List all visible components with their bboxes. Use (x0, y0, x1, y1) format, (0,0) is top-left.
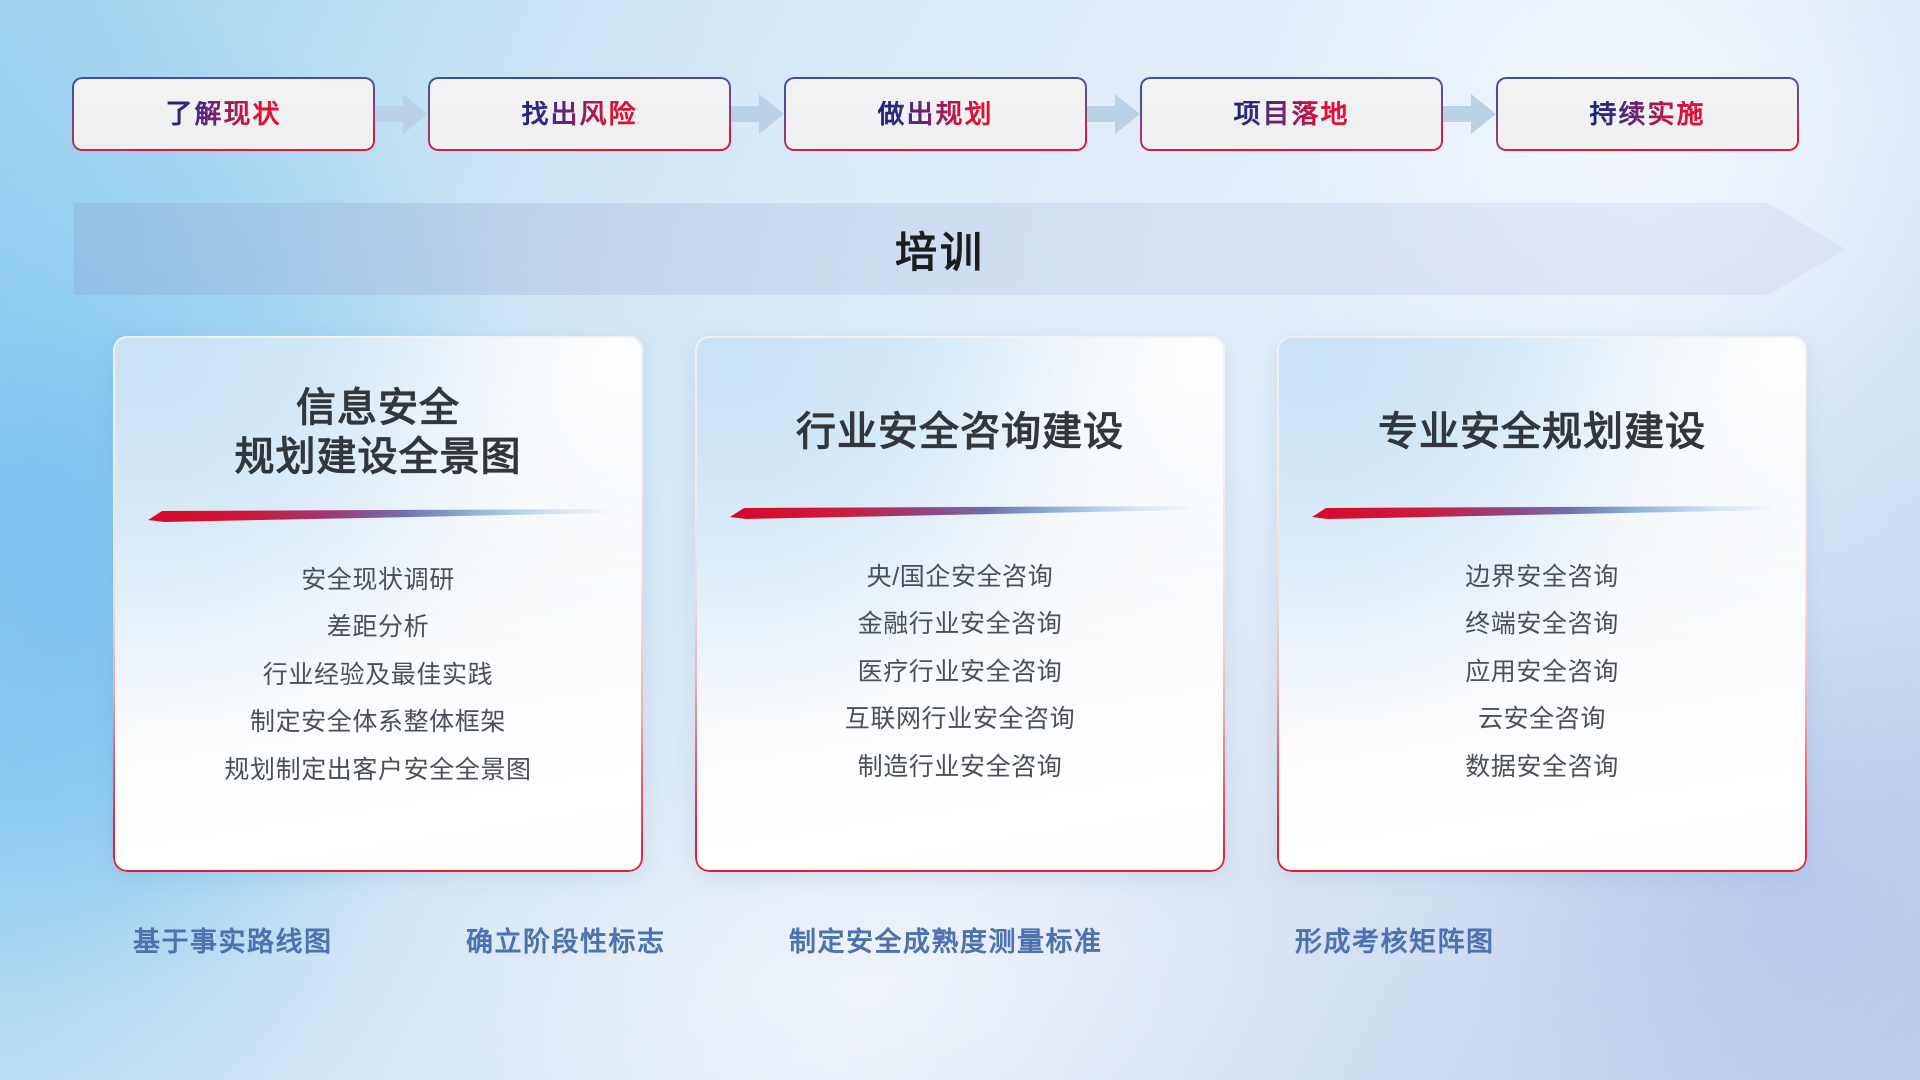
card-information-security-blueprint[interactable]: 信息安全 规划建设全景图 (113, 336, 643, 872)
caption-assessment-matrix: 形成考核矩阵图 (1295, 916, 1495, 968)
step-box-4[interactable]: 项目落地 (1142, 79, 1441, 149)
step-label-2: 找出风险 (522, 101, 638, 128)
list-item: 制造行业安全咨询 (858, 747, 1063, 789)
list-item: 互联网行业安全咨询 (845, 699, 1075, 741)
caption-roadmap: 基于事实路线图 (133, 916, 333, 968)
list-item: 安全现状调研 (301, 560, 455, 602)
step-box-3[interactable]: 做出规划 (786, 79, 1085, 149)
step-box-2[interactable]: 找出风险 (430, 79, 729, 149)
slide-canvas: 了解现状 找出风险 做出规划 (0, 0, 1920, 1080)
arrow-right-icon (1441, 90, 1498, 138)
training-banner: 培训 (74, 203, 1846, 295)
step-box-5[interactable]: 持续实施 (1498, 79, 1797, 149)
card-divider-rule (730, 506, 1190, 519)
card-item-list: 边界安全咨询 终端安全咨询 应用安全咨询 云安全咨询 数据安全咨询 (1465, 557, 1619, 789)
step-wrap-5: 持续实施 (1498, 79, 1797, 149)
arrow-right-icon (1085, 90, 1142, 138)
arrow-right-icon (373, 90, 430, 138)
list-item: 数据安全咨询 (1465, 747, 1619, 789)
step-wrap-4: 项目落地 (1142, 79, 1498, 149)
banner-title: 培训 (74, 203, 1846, 295)
step-label-3: 做出规划 (878, 101, 994, 128)
step-wrap-3: 做出规划 (786, 79, 1142, 149)
step-label-5: 持续实施 (1590, 101, 1706, 128)
step-label-1: 了解现状 (166, 101, 282, 128)
card-professional-security-planning[interactable]: 专业安全规划建设 (1277, 336, 1807, 872)
process-step-row: 了解现状 找出风险 做出规划 (74, 79, 1846, 149)
card-item-list: 央/国企安全咨询 金融行业安全咨询 医疗行业安全咨询 互联网行业安全咨询 制造行… (845, 557, 1075, 789)
card-industry-security-consulting[interactable]: 行业安全咨询建设 (695, 336, 1225, 872)
list-item: 应用安全咨询 (1465, 652, 1619, 694)
step-wrap-2: 找出风险 (430, 79, 786, 149)
step-box-1[interactable]: 了解现状 (74, 79, 373, 149)
list-item: 央/国企安全咨询 (867, 557, 1054, 599)
list-item: 差距分析 (327, 607, 429, 649)
card-row: 信息安全 规划建设全景图 (113, 336, 1807, 872)
caption-row: 基于事实路线图 确立阶段性标志 制定安全成熟度测量标准 形成考核矩阵图 (0, 916, 1920, 968)
list-item: 云安全咨询 (1478, 699, 1606, 741)
card-title: 专业安全规划建设 (1378, 408, 1706, 457)
arrow-right-icon (729, 90, 786, 138)
card-divider-rule (148, 509, 608, 522)
list-item: 医疗行业安全咨询 (858, 652, 1063, 694)
card-title: 行业安全咨询建设 (796, 408, 1124, 457)
caption-milestones: 确立阶段性标志 (466, 916, 666, 968)
list-item: 行业经验及最佳实践 (263, 655, 493, 697)
list-item: 终端安全咨询 (1465, 604, 1619, 646)
list-item: 边界安全咨询 (1465, 557, 1619, 599)
caption-maturity-standard: 制定安全成熟度测量标准 (789, 916, 1103, 968)
list-item: 规划制定出客户安全全景图 (224, 750, 531, 792)
card-item-list: 安全现状调研 差距分析 行业经验及最佳实践 制定安全体系整体框架 规划制定出客户… (224, 560, 531, 792)
card-title: 信息安全 规划建设全景图 (235, 384, 522, 482)
step-label-4: 项目落地 (1234, 101, 1350, 128)
list-item: 金融行业安全咨询 (858, 604, 1063, 646)
list-item: 制定安全体系整体框架 (250, 702, 506, 744)
card-divider-rule (1312, 506, 1772, 519)
step-wrap-1: 了解现状 (74, 79, 430, 149)
